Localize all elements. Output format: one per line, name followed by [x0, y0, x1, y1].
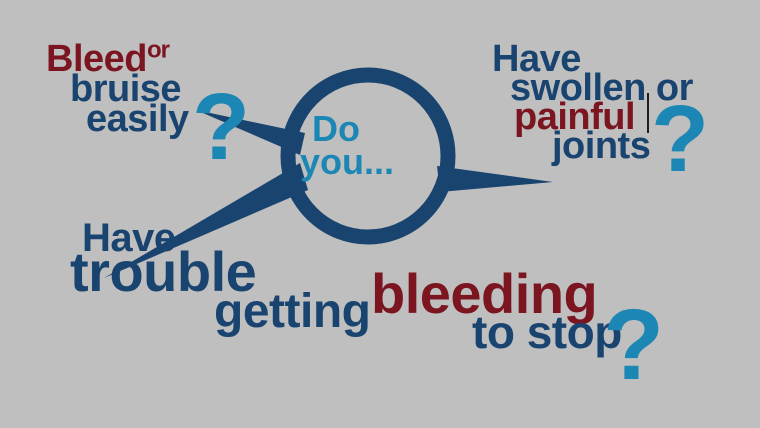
question-swollen-or-painful-joints: Have swollen or painful joints ?	[492, 40, 693, 165]
q4-question-mark: ?	[603, 295, 664, 395]
poster-canvas: Do you... Bleedor bruise easily ? Have s…	[0, 0, 760, 428]
q1-word-easily: easily	[86, 100, 189, 138]
question-have-trouble-getting: Have trouble getting	[82, 218, 370, 336]
q1-question-mark: ?	[192, 80, 250, 175]
q1-word-or: or	[147, 36, 169, 63]
question-bleed-or-bruise-easily: Bleedor bruise easily ?	[46, 38, 189, 138]
text-cursor	[647, 93, 649, 133]
question-bleeding-to-stop: bleeding to stop ?	[371, 266, 622, 355]
q2-painful-text: painful	[514, 96, 635, 138]
center-label: Do you...	[300, 112, 440, 178]
q3-word-getting: getting	[214, 288, 370, 336]
center-label-line2: you...	[300, 145, 440, 178]
q4-word-to-stop: to stop	[472, 309, 622, 355]
q2-question-mark: ?	[651, 92, 709, 187]
